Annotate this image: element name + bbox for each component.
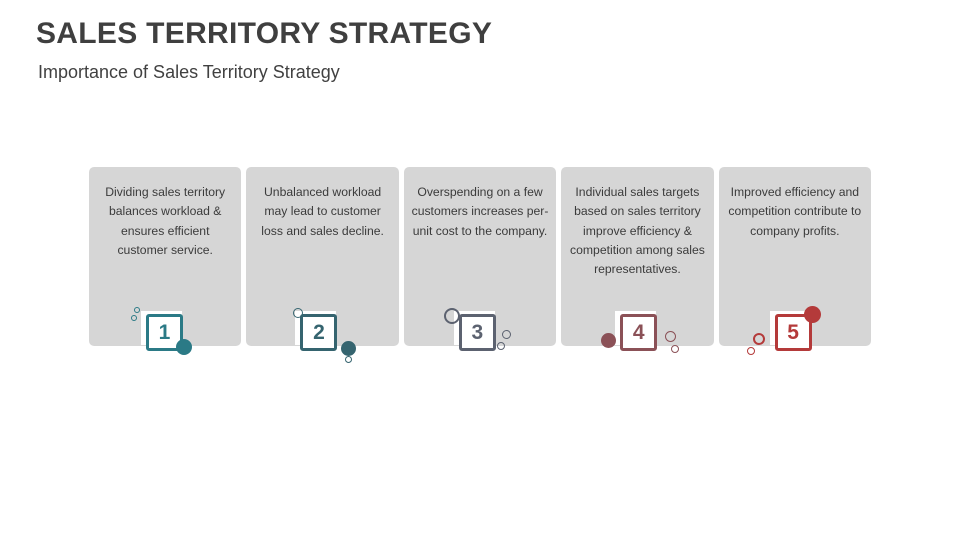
card-4-badge-group: 4 [561,303,713,359]
decor-circle-tiny-icon [345,356,352,363]
decor-circle-medium-icon [502,330,511,339]
card-1-badge-group: 1 [89,303,241,359]
card-1[interactable]: Dividing sales territory balances worklo… [89,167,241,346]
card-3-badge-group: 3 [404,303,556,359]
page-title: SALES TERRITORY STRATEGY [36,17,492,51]
card-2-badge-group: 2 [246,303,398,359]
card-3-number-badge[interactable]: 3 [459,314,496,351]
card-5[interactable]: Improved efficiency and competition cont… [719,167,871,346]
card-5-number-badge[interactable]: 5 [775,314,812,351]
page-subtitle: Importance of Sales Territory Strategy [38,62,340,83]
decor-circle-small-icon [497,342,505,350]
slide-canvas: SALES TERRITORY STRATEGY Importance of S… [0,0,960,540]
card-2-text: Unbalanced workload may lead to customer… [252,183,392,241]
card-2[interactable]: Unbalanced workload may lead to customer… [246,167,398,346]
decor-circle-tiny-icon [134,307,140,313]
decor-circle-small-icon [131,315,137,321]
decor-circle-medium-icon [665,331,676,342]
card-1-text: Dividing sales territory balances worklo… [95,183,235,260]
card-5-text: Improved efficiency and competition cont… [725,183,865,241]
card-row: Dividing sales territory balances worklo… [89,167,871,346]
decor-dot-filled-icon [341,341,356,356]
card-3-text: Overspending on a few customers increase… [410,183,550,241]
card-1-number-badge[interactable]: 1 [146,314,183,351]
card-4-text: Individual sales targets based on sales … [567,183,707,279]
decor-circle-large-icon [444,308,460,324]
card-4-number-badge[interactable]: 4 [620,314,657,351]
decor-circle-small-icon [671,345,679,353]
card-5-badge-group: 5 [719,303,871,359]
card-4[interactable]: Individual sales targets based on sales … [561,167,713,346]
decor-dot-filled-icon [601,333,616,348]
card-2-number-badge[interactable]: 2 [300,314,337,351]
decor-circle-small-icon [747,347,755,355]
card-3[interactable]: Overspending on a few customers increase… [404,167,556,346]
decor-circle-medium-icon [753,333,765,345]
